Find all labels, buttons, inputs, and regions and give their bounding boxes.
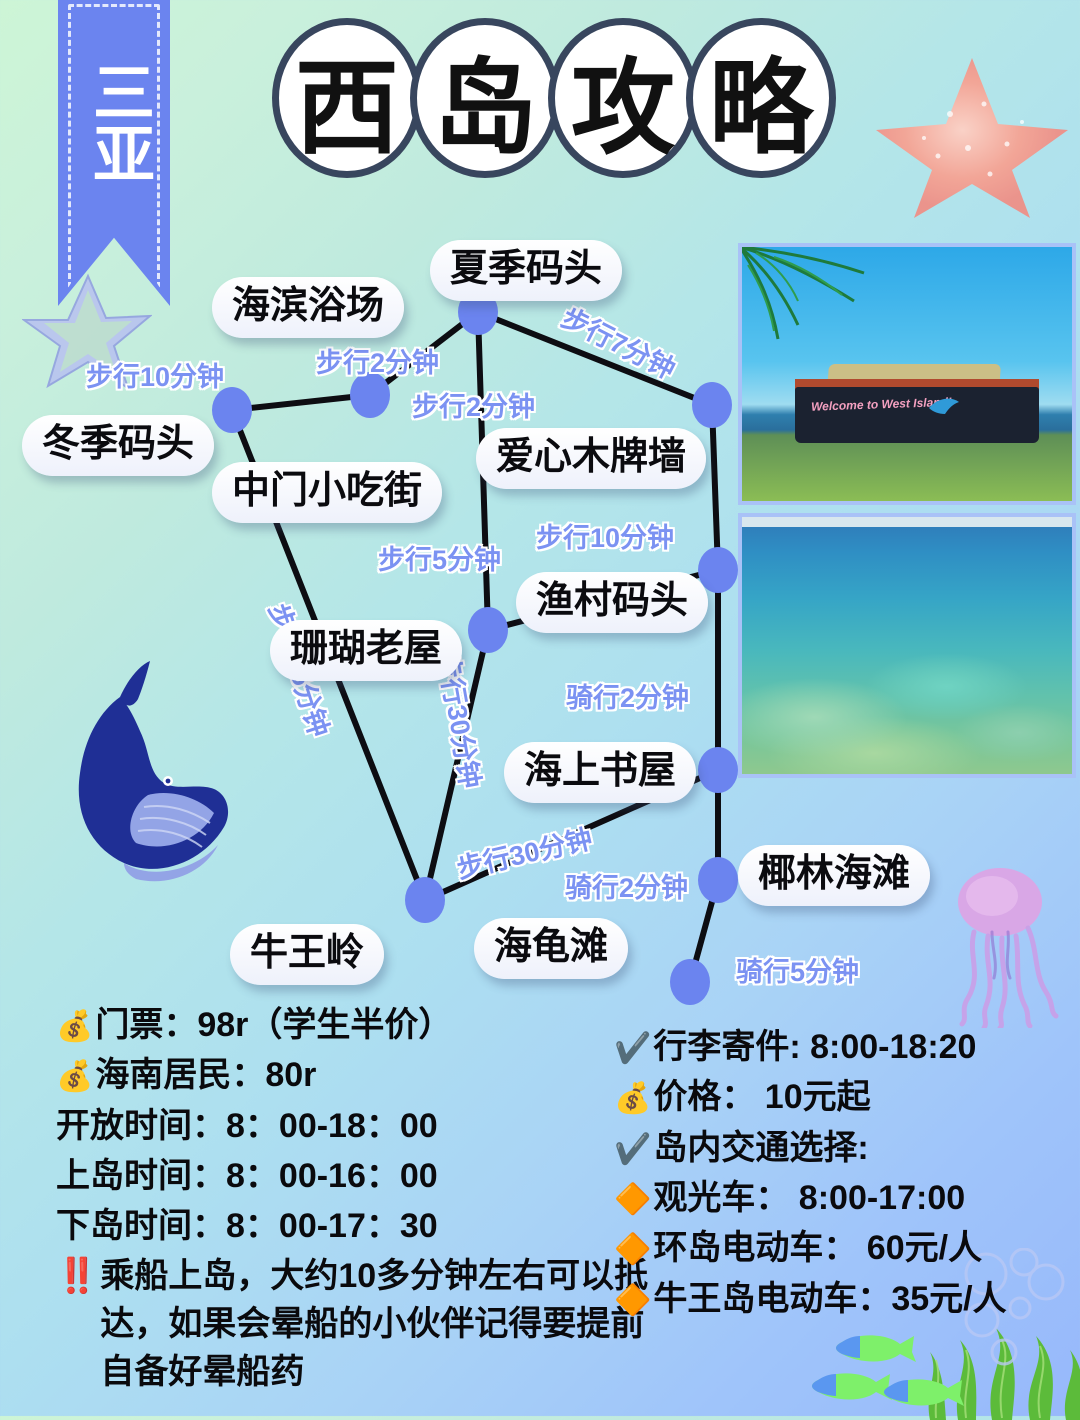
node-fishing-pier[interactable] bbox=[698, 547, 738, 593]
check-mark-icon: ✔️ bbox=[614, 1135, 651, 1165]
money-bag-icon: 💰 bbox=[56, 1012, 93, 1042]
duration-winter-to-beach: 步行10分钟 bbox=[86, 355, 224, 394]
info-right-text-4: 观光车： 8:00-17:00 bbox=[653, 1173, 965, 1223]
info-left-text-4: 上岛时间：8：00-16：00 bbox=[56, 1151, 438, 1201]
info-right-text-2: 价格： 10元起 bbox=[653, 1072, 870, 1122]
title-char-1: 西 bbox=[272, 18, 422, 178]
info-left-text-2: 海南居民：80r bbox=[95, 1050, 316, 1100]
place-sea-bookstore[interactable]: 海上书屋 bbox=[504, 742, 696, 803]
double-exclamation-icon: ‼️ bbox=[56, 1252, 98, 1300]
title-char-4: 略 bbox=[686, 18, 836, 178]
duration-snack-to-coral: 步行5分钟 bbox=[378, 538, 501, 577]
place-coconut-beach[interactable]: 椰林海滩 bbox=[738, 845, 930, 906]
check-mark-icon: ✔️ bbox=[614, 1034, 651, 1064]
place-beach-bath[interactable]: 海滨浴场 bbox=[212, 277, 404, 338]
info-left-row-3: 开放时间：8：00-18：00 bbox=[56, 1101, 656, 1151]
orange-diamond-icon: 🔶 bbox=[614, 1286, 651, 1316]
place-niuwang-ridge[interactable]: 牛王岭 bbox=[230, 924, 384, 985]
place-fishing-pier[interactable]: 渔村码头 bbox=[516, 572, 708, 633]
page-title: 西 岛 攻 略 bbox=[272, 18, 836, 178]
duration-coconut-to-turtle: 骑行5分钟 bbox=[736, 950, 859, 989]
info-right-row-3: ✔️ 岛内交通选择: bbox=[614, 1123, 1080, 1173]
node-coral-house[interactable] bbox=[468, 607, 508, 653]
info-left-text-3: 开放时间：8：00-18：00 bbox=[56, 1101, 438, 1151]
node-turtle-beach[interactable] bbox=[670, 959, 710, 1005]
duration-bookstore-to-coconut: 骑行2分钟 bbox=[565, 866, 688, 905]
place-summer-pier[interactable]: 夏季码头 bbox=[430, 240, 622, 301]
place-snack-street[interactable]: 中门小吃街 bbox=[212, 462, 442, 523]
node-love-wood-wall[interactable] bbox=[692, 382, 732, 428]
fish-school-icon bbox=[812, 1320, 982, 1412]
info-left-note-text: 乘船上岛，大约10多分钟左右可以抵达，如果会晕船的小伙伴记得要提前自备好晕船药 bbox=[100, 1252, 656, 1397]
duration-fishing-to-bookstore: 骑行2分钟 bbox=[566, 676, 689, 715]
duration-lovewall-to-fishing: 步行10分钟 bbox=[536, 516, 674, 555]
orange-diamond-icon: 🔶 bbox=[614, 1235, 651, 1265]
money-bag-icon: 💰 bbox=[56, 1062, 93, 1092]
starfish-pink-icon bbox=[872, 52, 1072, 222]
info-left-note: ‼️乘船上岛，大约10多分钟左右可以抵达，如果会晕船的小伙伴记得要提前自备好晕船… bbox=[56, 1252, 656, 1397]
title-char-2: 岛 bbox=[410, 18, 560, 178]
info-right-column: ✔️ 行李寄件: 8:00-18:20 💰 价格： 10元起 ✔️ 岛内交通选择… bbox=[614, 1022, 1080, 1324]
poster-canvas: 三亚 西 岛 攻 略 bbox=[0, 0, 1080, 1416]
info-left-row-5: 下岛时间：8：00-17：30 bbox=[56, 1201, 656, 1251]
info-right-row-6: 🔶 牛王岛电动车：35元/人 bbox=[614, 1274, 1080, 1324]
place-turtle-beach[interactable]: 海龟滩 bbox=[474, 918, 628, 979]
orange-diamond-icon: 🔶 bbox=[614, 1185, 651, 1215]
title-char-3: 攻 bbox=[548, 18, 698, 178]
info-left-row-2: 💰 海南居民：80r bbox=[56, 1050, 656, 1100]
info-left-text-5: 下岛时间：8：00-17：30 bbox=[56, 1201, 438, 1251]
info-right-text-6: 牛王岛电动车：35元/人 bbox=[653, 1274, 1006, 1324]
duration-summer-to-snack: 步行2分钟 bbox=[412, 385, 535, 424]
place-winter-pier[interactable]: 冬季码头 bbox=[22, 415, 214, 476]
info-right-row-5: 🔶 环岛电动车： 60元/人 bbox=[614, 1223, 1080, 1273]
place-love-wood-wall[interactable]: 爱心木牌墙 bbox=[476, 428, 706, 489]
info-right-row-4: 🔶 观光车： 8:00-17:00 bbox=[614, 1173, 1080, 1223]
duration-beach-to-summer: 步行2分钟 bbox=[316, 341, 439, 380]
info-right-text-5: 环岛电动车： 60元/人 bbox=[653, 1223, 982, 1273]
info-left-text-1: 门票：98r（学生半价） bbox=[95, 1000, 452, 1050]
money-bag-icon: 💰 bbox=[614, 1084, 651, 1114]
node-coconut-beach[interactable] bbox=[698, 857, 738, 903]
info-right-row-1: ✔️ 行李寄件: 8:00-18:20 bbox=[614, 1022, 1080, 1072]
info-right-text-3: 岛内交通选择: bbox=[653, 1123, 868, 1173]
ribbon-label: 三亚 bbox=[79, 22, 149, 222]
info-right-text-1: 行李寄件: 8:00-18:20 bbox=[653, 1022, 976, 1072]
node-niuwang-ridge[interactable] bbox=[405, 877, 445, 923]
info-left-row-4: 上岛时间：8：00-16：00 bbox=[56, 1151, 656, 1201]
info-left-column: 💰 门票：98r（学生半价） 💰 海南居民：80r 开放时间：8：00-18：0… bbox=[56, 1000, 656, 1396]
place-coral-house[interactable]: 珊瑚老屋 bbox=[270, 620, 462, 681]
info-left-row-1: 💰 门票：98r（学生半价） bbox=[56, 1000, 656, 1050]
info-right-row-2: 💰 价格： 10元起 bbox=[614, 1072, 1080, 1122]
node-sea-bookstore[interactable] bbox=[698, 747, 738, 793]
